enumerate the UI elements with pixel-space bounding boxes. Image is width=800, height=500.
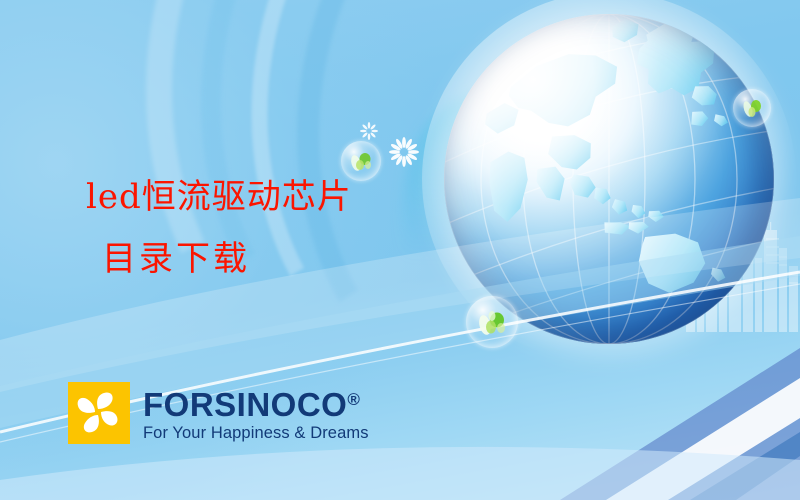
four-petal-pinwheel-icon xyxy=(68,382,130,444)
registered-trademark-symbol: ® xyxy=(347,390,360,409)
bubble-leaf-icon xyxy=(733,89,771,127)
logo-tagline: For Your Happiness & Dreams xyxy=(143,424,369,443)
bubble-leaf-icon xyxy=(466,296,518,348)
promo-banner: led恒流驱动芯片 目录下载 FORSINOCO® For Your Happi… xyxy=(0,0,800,500)
bubble-top-right xyxy=(733,89,771,127)
headline-line-1: led恒流驱动芯片 xyxy=(86,177,352,217)
headline: led恒流驱动芯片 目录下载 xyxy=(86,166,416,290)
starburst-small-icon xyxy=(360,122,378,140)
logo-wordmark-text: FORSINOCO xyxy=(143,386,347,423)
logo-wordmark: FORSINOCO® xyxy=(143,383,369,422)
starburst-large-icon xyxy=(389,137,419,167)
logo-text-block: FORSINOCO® For Your Happiness & Dreams xyxy=(143,383,369,443)
brand-logo: FORSINOCO® For Your Happiness & Dreams xyxy=(68,382,369,444)
bubble-lower xyxy=(466,296,518,348)
headline-line-2: 目录下载 xyxy=(86,228,416,290)
